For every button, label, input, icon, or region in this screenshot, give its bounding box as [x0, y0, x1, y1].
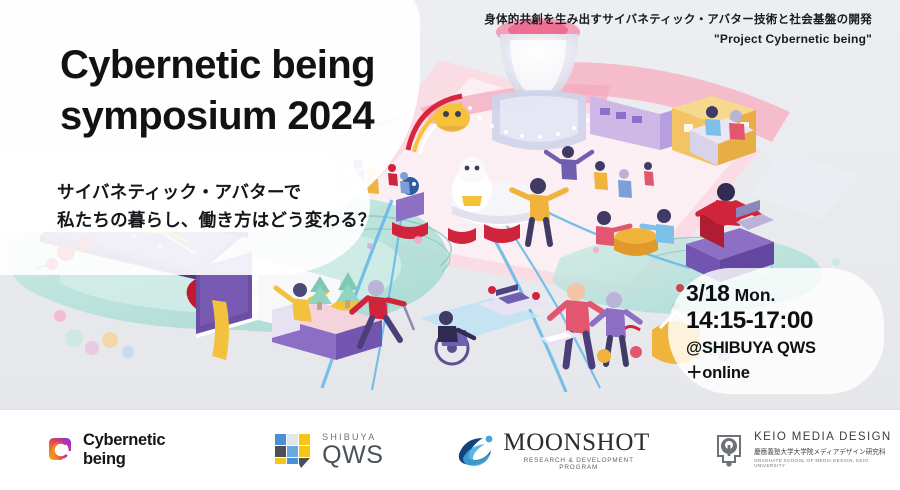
- moonshot-wordmark: MOONSHOT RESEARCH & DEVELOPMENT PROGRAM: [503, 430, 654, 471]
- sponsor-logo-bar: Cybernetic being SHIBUYA QWS: [0, 410, 900, 490]
- event-date: 3/18: [686, 280, 730, 306]
- logo-moonshot[interactable]: MOONSHOT RESEARCH & DEVELOPMENT PROGRAM: [455, 430, 654, 471]
- subtitle-line-2: 私たちの暮らし、働き方はどう変わる？: [57, 206, 417, 234]
- title-line-2: symposium 2024: [60, 91, 480, 142]
- event-time: 14:15-17:00: [686, 307, 886, 334]
- cybernetic-being-mark-icon: [48, 437, 74, 463]
- keio-en-sub: GRADUATE SCHOOL OF MEDIA DESIGN, KEIO UN…: [754, 458, 900, 468]
- cybernetic-being-wordmark: Cybernetic being: [83, 431, 211, 469]
- qws-large-text: QWS: [322, 443, 383, 468]
- shibuya-qws-wordmark: SHIBUYA QWS: [322, 433, 383, 468]
- keio-wordmark: KEIO MEDIA DESIGN 慶應義塾大学大学院メディアデザイン研究科 G…: [754, 432, 900, 469]
- logo-shibuya-qws[interactable]: SHIBUYA QWS: [273, 430, 383, 470]
- project-header-en: "Project Cybernetic being": [484, 32, 872, 46]
- title-line-1: Cybernetic being: [60, 43, 375, 87]
- event-date-row: 3/18Mon.: [686, 281, 886, 306]
- event-mode: ＋online: [686, 359, 886, 383]
- keio-kmd-circle-icon: [712, 432, 746, 468]
- project-header-jp: 身体的共創を生み出すサイバネティック・アバター技術と社会基盤の開発: [484, 12, 872, 29]
- moonshot-name: MOONSHOT: [503, 430, 654, 455]
- keio-jp: 慶應義塾大学大学院メディアデザイン研究科: [754, 446, 900, 456]
- symposium-poster: Cybernetic being symposium 2024 サイバネティック…: [0, 0, 900, 490]
- moonshot-tagline: RESEARCH & DEVELOPMENT PROGRAM: [503, 457, 654, 471]
- keio-name: KEIO MEDIA DESIGN: [754, 432, 900, 444]
- page-title: Cybernetic being symposium 2024: [60, 40, 480, 142]
- shibuya-qws-mark-icon: [273, 430, 313, 470]
- subtitle-line-1: サイバネティック・アバターで: [57, 178, 417, 206]
- moonshot-swoosh-icon: [455, 432, 499, 468]
- event-venue: @SHIBUYA QWS: [686, 339, 886, 358]
- logo-keio-media-design[interactable]: KEIO MEDIA DESIGN 慶應義塾大学大学院メディアデザイン研究科 G…: [712, 432, 900, 469]
- project-header: 身体的共創を生み出すサイバネティック・アバター技術と社会基盤の開発 "Proje…: [484, 12, 872, 46]
- event-info: 3/18Mon. 14:15-17:00 @SHIBUYA QWS ＋onlin…: [686, 281, 886, 383]
- subtitle: サイバネティック・アバターで 私たちの暮らし、働き方はどう変わる？: [57, 178, 417, 235]
- logo-cybernetic-being[interactable]: Cybernetic being: [48, 431, 211, 469]
- event-weekday: Mon.: [735, 285, 776, 305]
